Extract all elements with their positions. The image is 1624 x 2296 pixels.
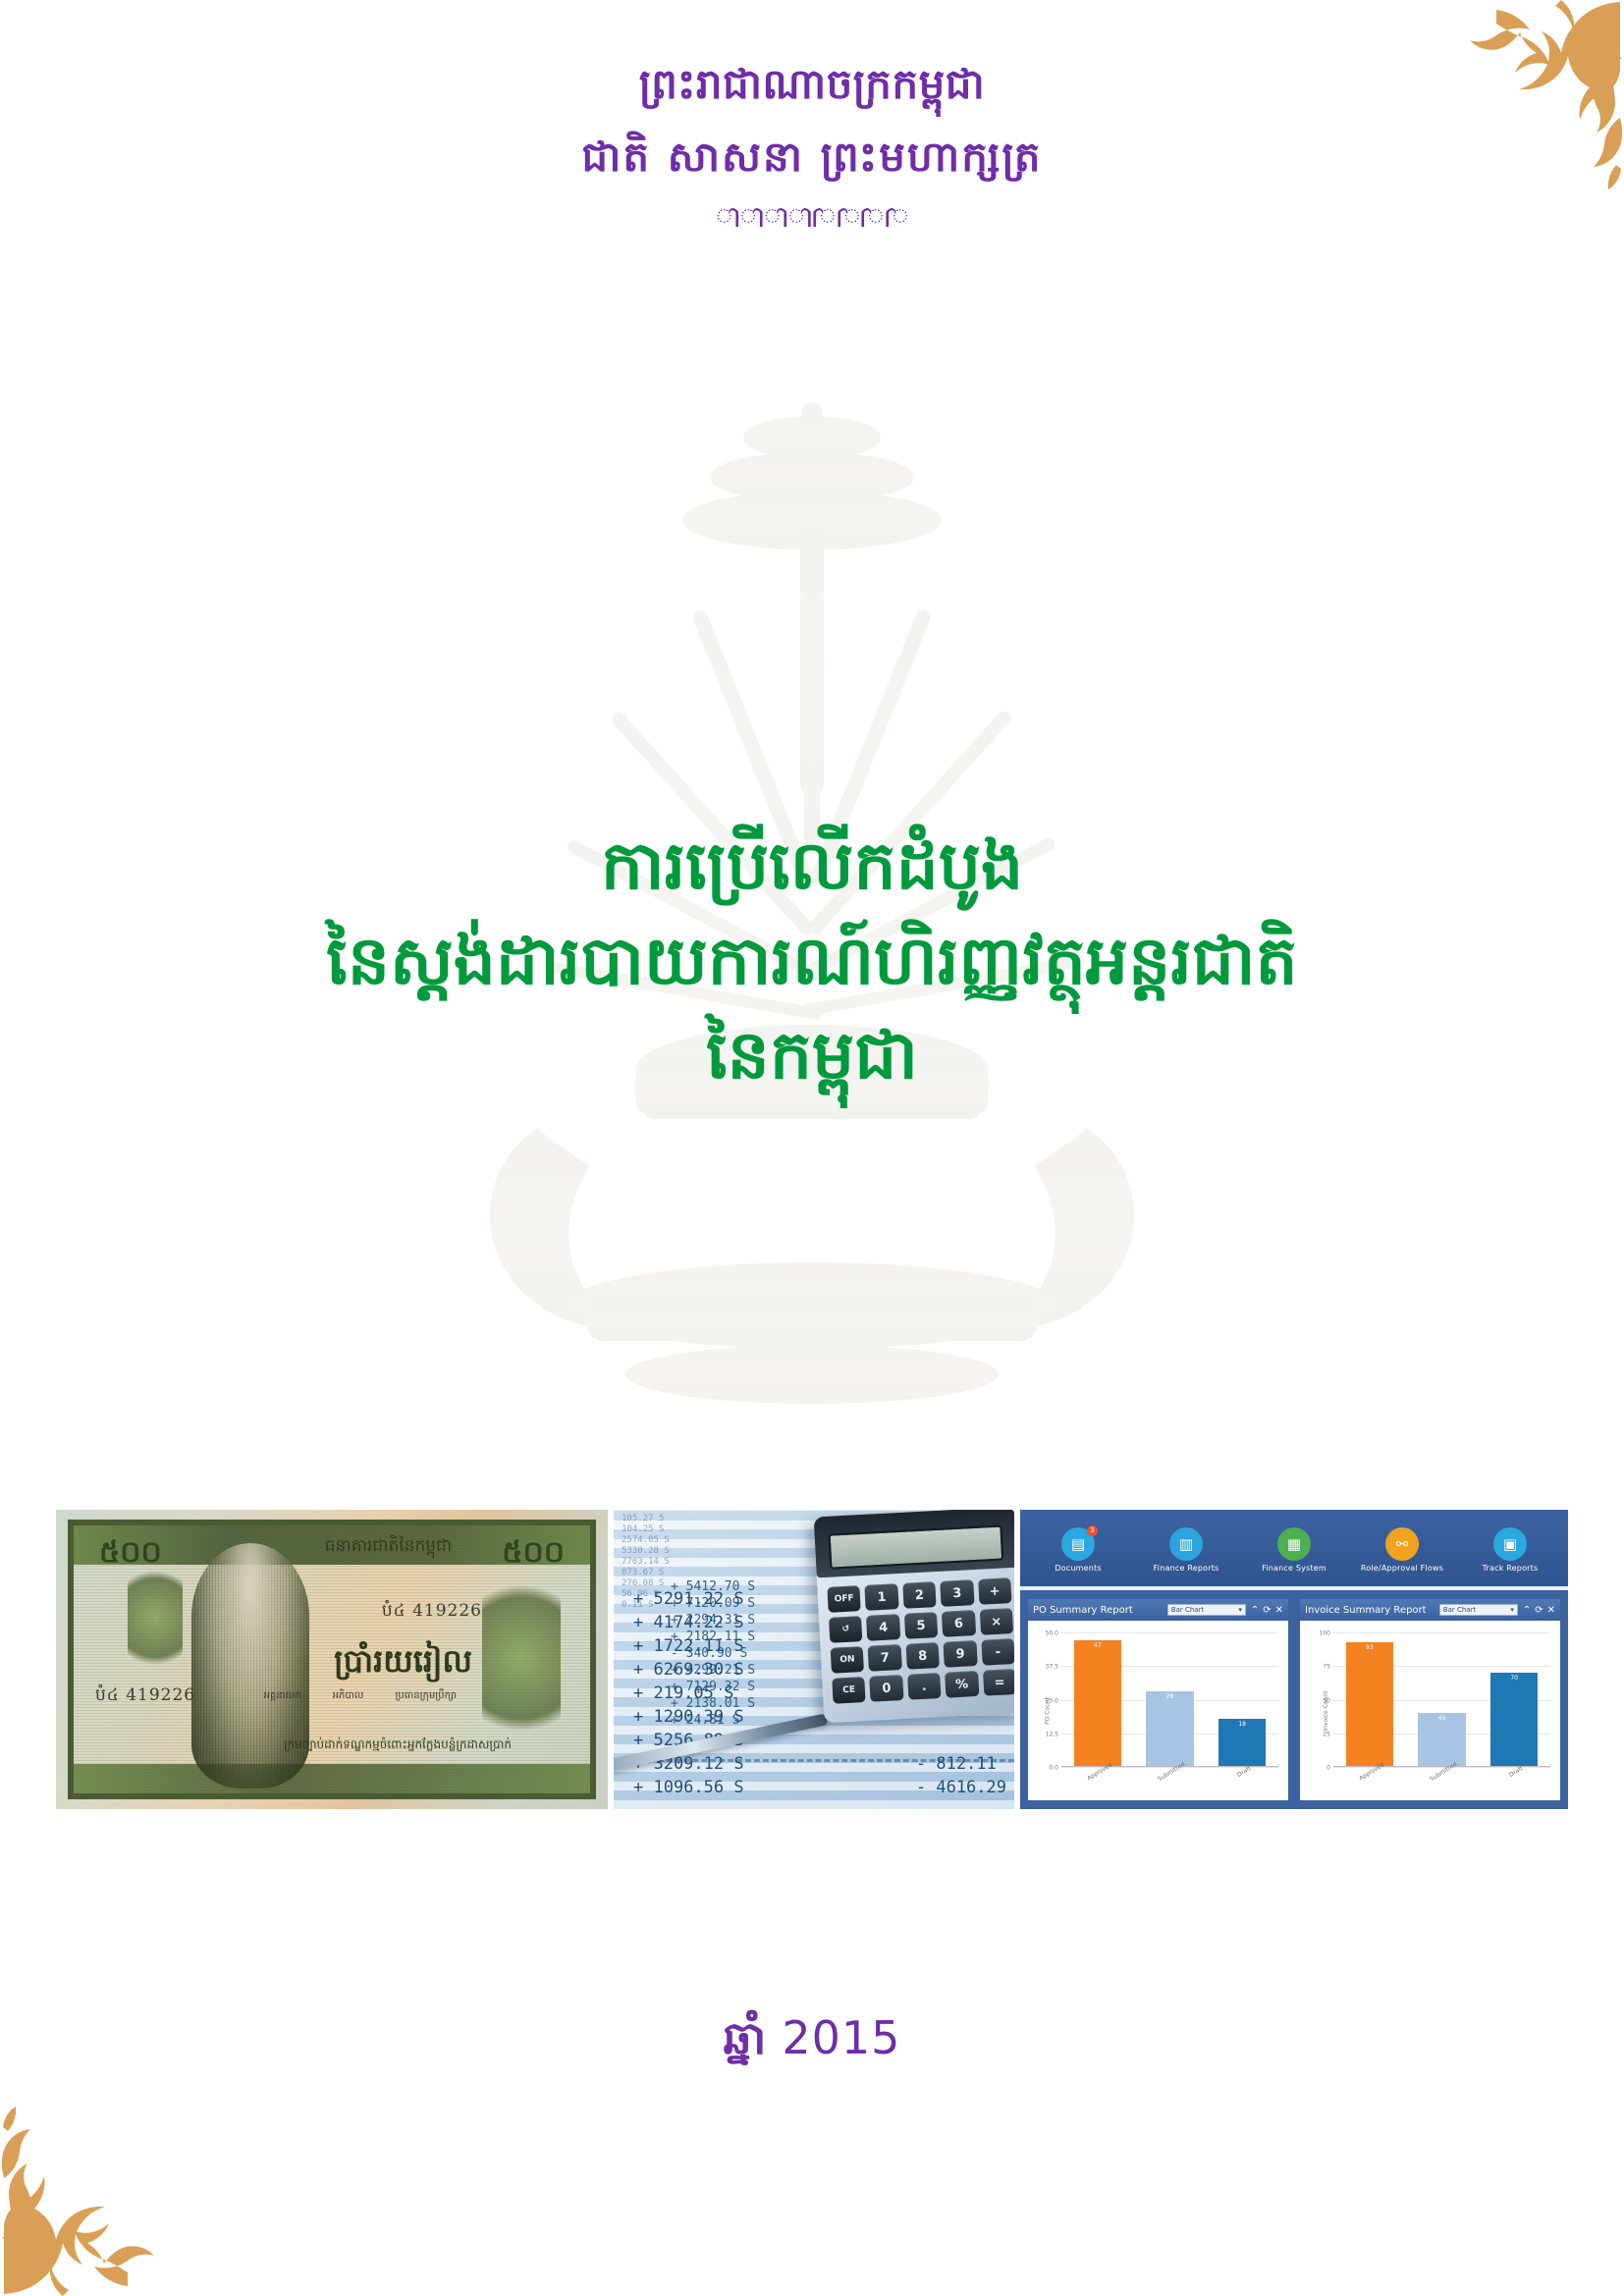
refresh-icon[interactable]: ⟳ xyxy=(1535,1605,1543,1616)
calculator-ledger-photo: 105.27 5104.25 S2574.05 S5330.28 S7703.1… xyxy=(614,1510,1014,1809)
calculator-key-ce: CE xyxy=(832,1677,866,1704)
nav-item-track-reports[interactable]: ▣ Track Reports xyxy=(1461,1523,1559,1573)
y-tick-po: 0.0 xyxy=(1049,1765,1058,1772)
y-tick-invoice: 100 xyxy=(1320,1630,1330,1637)
close-icon[interactable]: ✕ xyxy=(1547,1605,1555,1616)
calculator-key-8: 8 xyxy=(905,1642,940,1670)
chart-icon: ▥ xyxy=(1169,1527,1203,1561)
bar-value-po-1: 28 xyxy=(1146,1693,1194,1700)
banknote-serial-top: បំ៤ 419226 xyxy=(382,1600,482,1625)
y-tick-po: 37.5 xyxy=(1046,1664,1058,1671)
national-motto: ជាតិ សាសនា ព្រះមហាក្សត្រ xyxy=(0,133,1624,181)
calculator-key-2: 2 xyxy=(902,1581,937,1609)
collapse-icon[interactable]: ⌃ xyxy=(1251,1605,1259,1616)
nav-label-documents: Documents xyxy=(1029,1564,1127,1573)
x-axis-labels-po: Approved Submitted Draft xyxy=(1061,1769,1278,1794)
banknote-issuer: ធនាគារជាតិនៃកម្ពុជា xyxy=(275,1535,502,1560)
banknote-denomination-right: ៥០០ xyxy=(502,1533,565,1576)
chart-invoice-summary: Invoice Count 100 75 50 25 0 93 40 xyxy=(1300,1621,1560,1800)
divider-glyph: ា xyxy=(739,203,764,233)
banknote-legal-notice: ក្រមច្បាប់ដាក់ទណ្ឌកម្មចំពោះអ្នកក្លែងបន្ល… xyxy=(284,1736,512,1754)
panel-invoice-summary-report: Invoice Summary Report Bar Chart ▾ ⌃ ⟳ ✕ xyxy=(1297,1596,1563,1803)
panel-header: Invoice Summary Report Bar Chart ▾ ⌃ ⟳ ✕ xyxy=(1300,1599,1560,1621)
close-icon[interactable]: ✕ xyxy=(1275,1605,1283,1616)
panel-title-invoice: Invoice Summary Report xyxy=(1305,1605,1435,1616)
y-tick-invoice: 75 xyxy=(1323,1664,1330,1671)
divider-glyph: ា xyxy=(812,203,837,233)
chevron-down-icon: ▾ xyxy=(1510,1606,1514,1614)
calculator-key-equals: = xyxy=(983,1669,1014,1696)
finance-dashboard-screenshot: ▤ 3 Documents ▥ Finance Reports ▦ Financ… xyxy=(1020,1510,1568,1809)
x-axis-labels-invoice: Approved Submitted Draft xyxy=(1333,1769,1550,1794)
nav-item-role-approval-flows[interactable]: ⚯ Role/Approval Flows xyxy=(1353,1523,1451,1573)
notification-badge: 3 xyxy=(1087,1525,1098,1536)
banknote-photo: ៥០០ ៥០០ ធនាគារជាតិនៃកម្ពុជា បំ៤ 419226 ប… xyxy=(56,1510,608,1809)
divider-glyph: ា xyxy=(716,203,740,233)
system-icon: ▦ xyxy=(1277,1527,1311,1561)
divider-glyph: ា xyxy=(860,203,885,233)
bar-po-0: 47 xyxy=(1074,1640,1122,1767)
chart-type-select-po[interactable]: Bar Chart ▾ xyxy=(1167,1604,1246,1616)
bar-value-invoice-2: 70 xyxy=(1490,1675,1539,1682)
banknote-denomination-left: ៥០០ xyxy=(99,1533,162,1576)
nav-label-role-approval-flows: Role/Approval Flows xyxy=(1353,1564,1451,1573)
bar-group-po: 47 28 18 xyxy=(1061,1632,1278,1767)
refresh-icon[interactable]: ⟳ xyxy=(1263,1605,1271,1616)
calculator-key-5: 5 xyxy=(904,1612,939,1639)
calculator-key-minus: - xyxy=(981,1638,1014,1666)
banknote-value-words: ប្រាំរយរៀល xyxy=(334,1641,472,1687)
document-icon: ▤ 3 xyxy=(1061,1527,1095,1561)
bar-value-po-0: 47 xyxy=(1074,1642,1122,1649)
bar-value-po-2: 18 xyxy=(1218,1721,1267,1728)
image-strip: ៥០០ ៥០០ ធនាគារជាតិនៃកម្ពុជា បំ៤ 419226 ប… xyxy=(56,1510,1568,1809)
year-value: 2015 xyxy=(782,2011,900,2064)
publication-year: ឆ្នាំ 2015 xyxy=(0,2010,1624,2076)
calculator-key-4: 4 xyxy=(866,1614,900,1641)
divider-glyph: ា xyxy=(837,203,861,233)
collapse-icon[interactable]: ⌃ xyxy=(1523,1605,1531,1616)
calculator-key-3: 3 xyxy=(940,1579,974,1607)
y-tick-po: 12.5 xyxy=(1046,1731,1058,1737)
chart-type-value-po: Bar Chart xyxy=(1171,1606,1204,1614)
nav-item-documents[interactable]: ▤ 3 Documents xyxy=(1029,1523,1127,1573)
calculator-key-decimal: . xyxy=(907,1673,942,1700)
calculator-display xyxy=(829,1524,1004,1569)
calculator-key-9: 9 xyxy=(944,1640,978,1668)
calculator-key-7: 7 xyxy=(868,1644,902,1672)
year-khmer-label: ឆ្នាំ xyxy=(724,2011,767,2064)
banknote-serial-bottom: បំ៤ 419226 xyxy=(95,1684,195,1709)
calculator-key-percent: % xyxy=(945,1671,979,1698)
calculator-key-multiply: × xyxy=(979,1608,1013,1635)
corner-ornament-bottom-left xyxy=(0,2100,187,2296)
y-tick-invoice: 50 xyxy=(1323,1697,1330,1704)
calculator-keypad: OFF 1 2 3 + ↺ 4 5 6 × ON 7 8 9 - xyxy=(827,1577,1014,1704)
y-tick-invoice: 0 xyxy=(1326,1765,1330,1772)
calculator-key-off: OFF xyxy=(827,1585,861,1613)
nav-label-finance-system: Finance System xyxy=(1245,1564,1343,1573)
flow-icon: ⚯ xyxy=(1385,1527,1419,1561)
dashboard-nav: ▤ 3 Documents ▥ Finance Reports ▦ Financ… xyxy=(1020,1510,1568,1586)
bar-invoice-2: 70 xyxy=(1490,1673,1539,1767)
calculator-key-plus: + xyxy=(978,1577,1012,1605)
track-icon: ▣ xyxy=(1493,1527,1527,1561)
decorative-divider: ាាាាាាាា xyxy=(0,203,1624,233)
document-cover-page: ព្រះរាជាណាចក្រកម្ពុជា ជាតិ សាសនា ព្រះមហា… xyxy=(0,0,1624,2296)
calculator-key-on: ON xyxy=(831,1646,865,1674)
bar-value-invoice-1: 40 xyxy=(1418,1715,1466,1722)
ledger-column-big: + 5291.22 S+ 4174.22 S+ 1722.11 S+ 6269.… xyxy=(633,1587,744,1799)
nav-item-finance-reports[interactable]: ▥ Finance Reports xyxy=(1137,1523,1235,1573)
panel-header: PO Summary Report Bar Chart ▾ ⌃ ⟳ ✕ xyxy=(1028,1599,1288,1621)
chart-type-select-invoice[interactable]: Bar Chart ▾ xyxy=(1439,1604,1518,1616)
nav-label-finance-reports: Finance Reports xyxy=(1137,1564,1235,1573)
y-tick-po: 50.0 xyxy=(1046,1630,1058,1637)
chevron-down-icon: ▾ xyxy=(1238,1606,1242,1614)
bar-group-invoice: 93 40 70 xyxy=(1333,1632,1550,1767)
header: ព្រះរាជាណាចក្រកម្ពុជា ជាតិ សាសនា ព្រះមហា… xyxy=(0,61,1624,233)
calculator-key-1: 1 xyxy=(865,1583,899,1611)
bar-value-invoice-0: 93 xyxy=(1346,1644,1394,1651)
y-tick-invoice: 25 xyxy=(1323,1731,1330,1737)
panel-po-summary-report: PO Summary Report Bar Chart ▾ ⌃ ⟳ ✕ xyxy=(1025,1596,1291,1803)
calculator-key-clear: ↺ xyxy=(829,1616,863,1643)
plot-area-invoice: 100 75 50 25 0 93 40 70 xyxy=(1333,1632,1550,1767)
kingdom-title: ព្រះរាជាណាចក្រកម្ពុជា xyxy=(0,61,1624,108)
panel-title-po: PO Summary Report xyxy=(1033,1605,1163,1616)
banknote-signature-labels: អគ្គនាយកអភិបាលប្រធានក្រុមប្រឹក្សា xyxy=(248,1688,472,1703)
title-line-2: នៃស្តង់ដារបាយការណ៍ហិរញ្ញវត្ថុអន្តរជាតិ xyxy=(0,915,1624,1010)
title-line-1: ការប្រើលើកដំបូង xyxy=(0,820,1624,915)
bar-invoice-0: 93 xyxy=(1346,1642,1394,1767)
chart-type-value-invoice: Bar Chart xyxy=(1443,1606,1476,1614)
calculator-key-0: 0 xyxy=(870,1675,904,1702)
nav-label-track-reports: Track Reports xyxy=(1461,1564,1559,1573)
divider-glyph: ា xyxy=(885,203,909,233)
document-title: ការប្រើលើកដំបូង នៃស្តង់ដារបាយការណ៍ហិរញ្ញ… xyxy=(0,820,1624,1104)
chart-po-summary: PO Count 50.0 37.5 25.0 12.5 0.0 47 28 xyxy=(1028,1621,1288,1800)
bar-po-1: 28 xyxy=(1146,1691,1194,1767)
calculator: OFF 1 2 3 + ↺ 4 5 6 × ON 7 8 9 - xyxy=(814,1510,1014,1723)
plot-area-po: 50.0 37.5 25.0 12.5 0.0 47 28 18 xyxy=(1061,1632,1278,1767)
y-tick-po: 25.0 xyxy=(1046,1697,1058,1704)
nav-item-finance-system[interactable]: ▦ Finance System xyxy=(1245,1523,1343,1573)
divider-glyph: ា xyxy=(764,203,788,233)
divider-glyph: ា xyxy=(787,203,812,233)
title-line-3: នៃកម្ពុជា xyxy=(0,1009,1624,1104)
calculator-key-6: 6 xyxy=(942,1610,976,1637)
